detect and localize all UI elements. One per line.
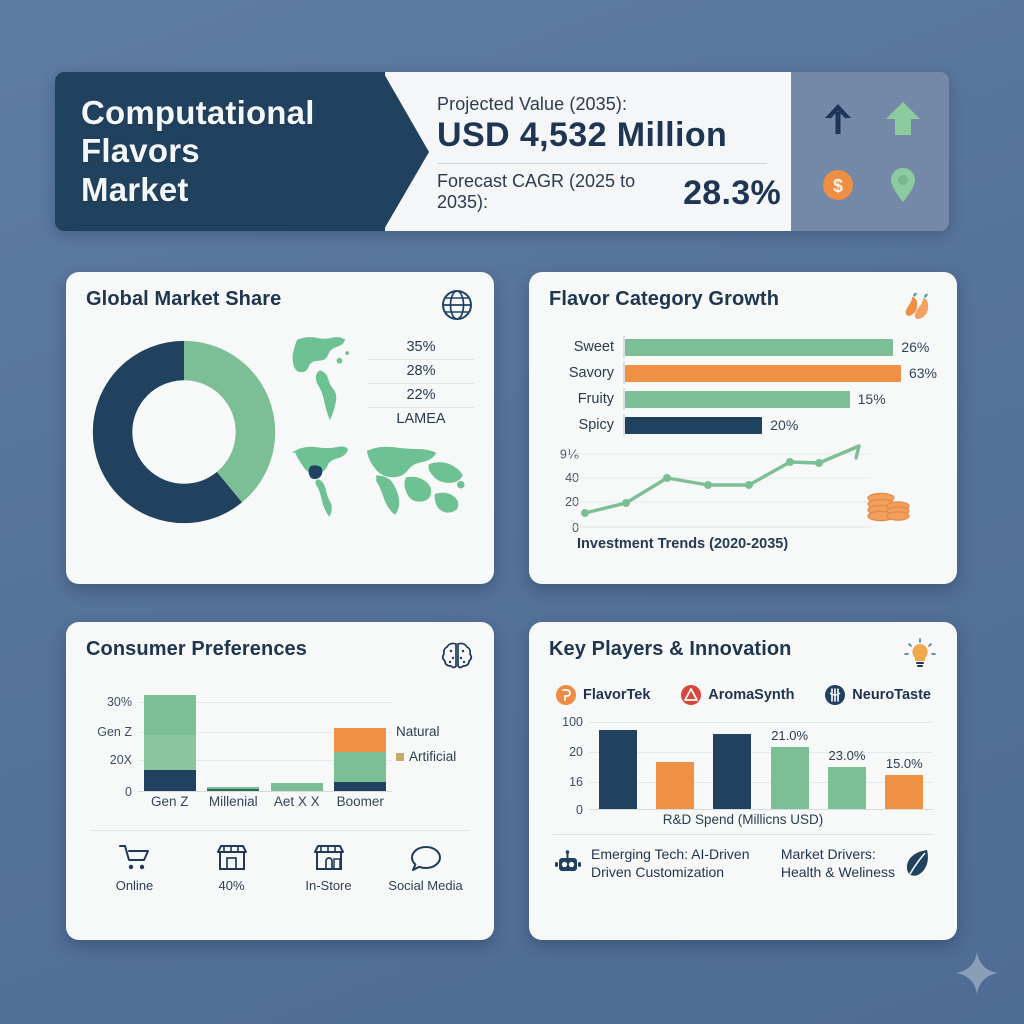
channel-label: In-Store	[305, 878, 351, 893]
bar-segment-green2	[144, 735, 196, 770]
market-drivers-text: Market Drivers: Health & Weliness	[781, 845, 895, 881]
bar-column: 21.0%	[761, 747, 818, 809]
flavortek-logo-icon	[555, 684, 577, 706]
player-flavortek[interactable]: FlavorTek	[555, 684, 650, 706]
globe-icon	[440, 288, 474, 322]
bar-column	[138, 695, 202, 791]
bar-value: 21.0%	[771, 728, 808, 743]
bar-segment-orange	[334, 728, 386, 752]
bar-column	[589, 730, 646, 809]
legend-item: LAMEA	[368, 408, 474, 431]
aromasynth-logo-icon	[680, 684, 702, 706]
speech-bubble-icon	[409, 843, 443, 873]
rd-chart-caption: R&D Spend (Millicns USD)	[549, 812, 937, 827]
x-label: Boomer	[329, 794, 393, 809]
market-share-donut	[86, 334, 282, 529]
investment-trends-chart: 0 20 40 9⅙	[549, 442, 937, 548]
projected-value: USD 4,532 Million	[437, 116, 781, 155]
innovation-footer: Emerging Tech: AI-Driven Driven Customiz…	[549, 845, 937, 881]
consumer-legend: Natural Artificial	[396, 724, 474, 774]
card-consumer-preferences: Consumer Preferences 0 20X Gen Z 30%	[66, 622, 494, 940]
card-title: Consumer Preferences	[86, 638, 307, 661]
americas-map-icon	[286, 332, 368, 424]
lightbulb-icon	[903, 638, 937, 672]
legend-item-artificial: Artificial	[396, 749, 474, 764]
bar-label: Spicy	[557, 417, 623, 433]
card-title: Global Market Share	[86, 288, 281, 311]
rd-y-axis: 0 16 20 100	[549, 716, 583, 810]
projected-value-label: Projected Value (2035):	[437, 94, 781, 115]
region-legend: 35% 28% 22% LAMEA	[368, 334, 474, 431]
bar-fill	[625, 391, 850, 408]
map-pin-icon	[887, 165, 919, 205]
bar-fill	[599, 730, 637, 809]
legend-item-natural: Natural	[396, 724, 474, 739]
card-key-players-innovation: Key Players & Innovation FlavorTek	[529, 622, 957, 940]
shopping-cart-icon	[118, 843, 152, 873]
bar-value: 15.0%	[886, 756, 923, 771]
channel-online[interactable]: Online	[93, 843, 177, 895]
leaf-icon	[903, 847, 933, 879]
header-title-block: Computational Flavors Market	[55, 72, 385, 231]
bar-label: Savory	[557, 365, 623, 381]
up-arrow-solid-icon	[884, 98, 922, 138]
bar-value: 23.0%	[829, 748, 866, 763]
line-series	[571, 442, 871, 528]
header-banner: Computational Flavors Market Projected V…	[55, 72, 949, 231]
bar-fill	[771, 747, 809, 809]
bar-column: 15.0%	[876, 775, 933, 809]
channel-in-store[interactable]: In-Store	[287, 843, 371, 895]
neurotaste-logo-icon	[824, 684, 846, 706]
robot-icon	[553, 848, 583, 878]
y-tick: 20X	[110, 753, 132, 767]
card-divider	[553, 834, 933, 835]
rd-spend-chart: 0 16 20 100 21.0% 23.0%	[549, 716, 937, 828]
bar-row: Savory 63%	[557, 362, 937, 384]
y-tick: 30%	[107, 695, 132, 709]
channel-social-media[interactable]: Social Media	[384, 843, 468, 895]
page-title: Computational Flavors Market	[81, 94, 315, 210]
bar-segment-green	[334, 752, 386, 782]
market-drivers-item: Market Drivers: Health & Weliness	[781, 845, 933, 881]
channel-share[interactable]: 40%	[190, 843, 274, 895]
bar-value: 15%	[858, 391, 886, 407]
bar-fill	[625, 365, 901, 382]
player-name: NeuroTaste	[852, 687, 931, 703]
bar-row: Fruity 15%	[557, 388, 937, 410]
bar-fill	[656, 762, 694, 809]
bar-segment-navy	[207, 789, 259, 791]
bar-label: Fruity	[557, 391, 623, 407]
brain-icon	[440, 638, 474, 672]
legend-item: 35%	[368, 336, 474, 360]
bar-value: 26%	[901, 339, 929, 355]
bar-column	[646, 762, 703, 809]
legend-item: 22%	[368, 384, 474, 408]
bar-row: Sweet 26%	[557, 336, 937, 358]
bar-column	[704, 734, 761, 809]
legend-label: Artificial	[409, 749, 456, 764]
player-name: FlavorTek	[583, 687, 650, 703]
channel-label: Social Media	[388, 878, 462, 893]
card-title: Flavor Category Growth	[549, 288, 779, 311]
channel-label: Online	[116, 878, 154, 893]
bar-fill	[713, 734, 751, 809]
bar-value: 63%	[909, 365, 937, 381]
chili-pepper-icon	[903, 288, 937, 322]
bar-fill	[885, 775, 923, 809]
y-tick: Gen Z	[97, 725, 132, 739]
up-arrow-outline-icon	[820, 98, 856, 138]
bar-label: Sweet	[557, 339, 623, 355]
cagr-value: 28.3%	[683, 174, 781, 213]
legend-item: 28%	[368, 360, 474, 384]
player-neurotaste[interactable]: NeuroTaste	[824, 684, 931, 706]
card-divider	[90, 830, 470, 831]
emerging-tech-text: Emerging Tech: AI-Driven Driven Customiz…	[591, 845, 749, 881]
channel-label: 40%	[218, 878, 244, 893]
y-tick: 20	[569, 745, 583, 759]
consumer-y-axis: 0 20X Gen Z 30%	[86, 688, 132, 792]
player-aromasynth[interactable]: AromaSynth	[680, 684, 794, 706]
bar-column	[329, 728, 393, 791]
legend-swatch	[396, 753, 404, 761]
bar-row: Spicy 20%	[557, 414, 937, 436]
consumer-preferences-chart: 0 20X Gen Z 30%	[86, 688, 474, 812]
card-title: Key Players & Innovation	[549, 638, 791, 661]
bar-fill	[625, 339, 893, 356]
flavor-growth-bars: Sweet 26% Savory 63% Fruity 15% Spicy 20…	[549, 336, 937, 436]
players-row: FlavorTek AromaSynth NeuroTaste	[549, 684, 937, 706]
card-global-market-share: Global Market Share	[66, 272, 494, 584]
bar-fill	[625, 417, 762, 434]
x-label: Millenial	[202, 794, 266, 809]
bar-column: 23.0%	[818, 767, 875, 809]
svg-text:$: $	[832, 176, 842, 196]
cagr-label: Forecast CAGR (2025 to 2035):	[437, 171, 679, 213]
y-tick: 100	[562, 715, 583, 729]
world-map-icon	[286, 433, 474, 529]
coins-icon	[865, 488, 911, 524]
channel-icon-row: Online 40% In-Store	[86, 843, 474, 895]
bar-segment-navy	[334, 782, 386, 791]
player-name: AromaSynth	[708, 687, 794, 703]
y-tick: 0	[125, 785, 132, 799]
bar-value: 20%	[770, 417, 798, 433]
storefront-icon	[215, 843, 249, 873]
legend-label: Natural	[396, 724, 440, 739]
dollar-circle-icon: $	[821, 168, 855, 202]
bar-segment-green	[271, 783, 323, 791]
x-label: Gen Z	[138, 794, 202, 809]
header-icon-grid: $	[791, 72, 949, 231]
bar-column	[265, 783, 329, 791]
y-tick: 16	[569, 775, 583, 789]
bar-column	[202, 787, 266, 791]
bar-fill	[828, 767, 866, 809]
emerging-tech-item: Emerging Tech: AI-Driven Driven Customiz…	[553, 845, 749, 881]
bar-segment-navy	[144, 770, 196, 791]
storefront-icon	[312, 843, 346, 873]
x-label: Aet X X	[265, 794, 329, 809]
header-stats: Projected Value (2035): USD 4,532 Millio…	[385, 72, 791, 231]
card-flavor-category-growth: Flavor Category Growth Sweet 26% Savory …	[529, 272, 957, 584]
line-chart-caption: Investment Trends (2020-2035)	[577, 536, 788, 552]
bar-segment-green	[144, 695, 196, 735]
header-divider	[437, 163, 767, 164]
sparkle-icon	[954, 950, 1000, 996]
